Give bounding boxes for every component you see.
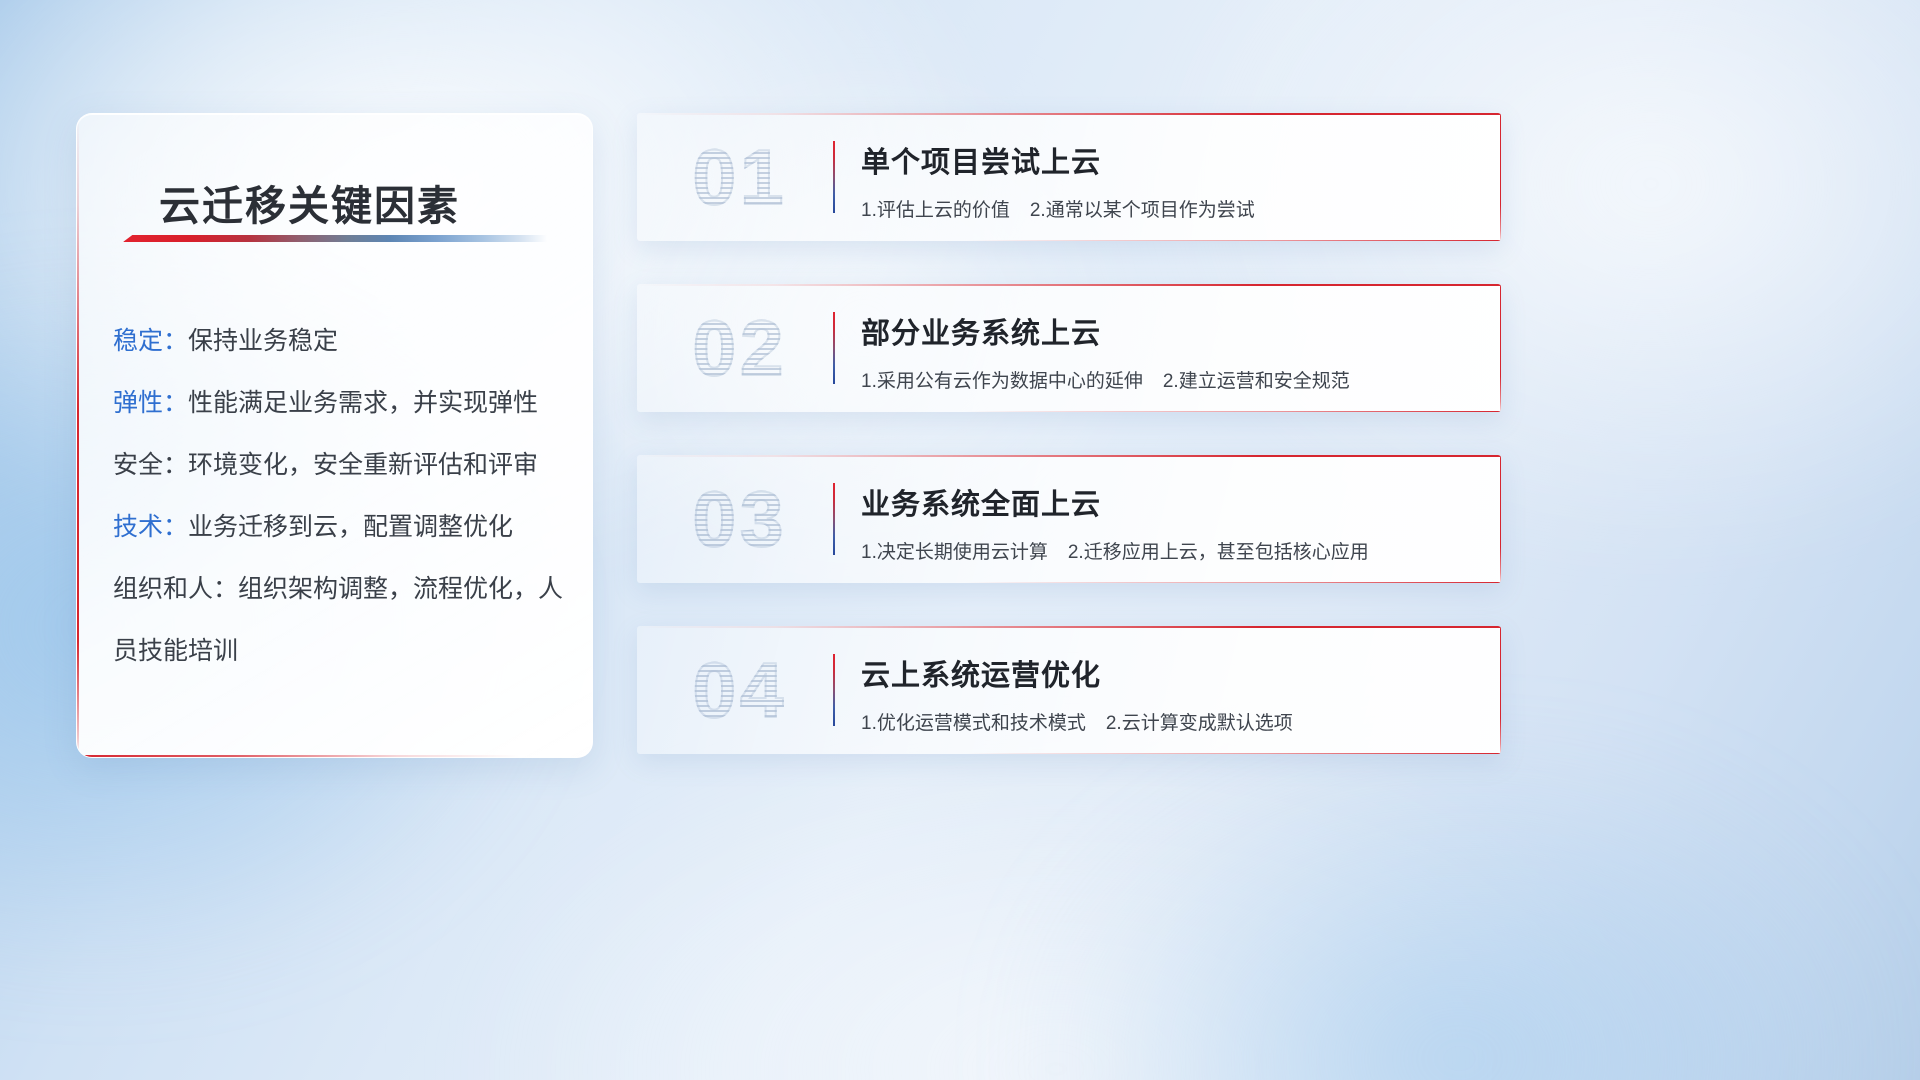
factor-label: 安全： (113, 451, 188, 479)
step-number: 02 (665, 298, 815, 398)
step-card-03[interactable]: 03 业务系统全面上云 1.决定长期使用云计算2.迁移应用上云，甚至包括核心应用 (637, 455, 1501, 583)
card-top-accent (637, 113, 1501, 115)
step-heading: 业务系统全面上云 (861, 481, 1101, 523)
factor-label: 技术： (113, 513, 188, 541)
factor-list: 稳定：保持业务稳定 弹性：性能满足业务需求，并实现弹性 安全：环境变化，安全重新… (113, 310, 583, 682)
card-right-accent (1500, 626, 1502, 754)
card-right-accent (1500, 455, 1502, 583)
card-right-accent (1500, 284, 1502, 412)
factor-text: 业务迁移到云，配置调整优化 (188, 513, 513, 541)
card-bottom-accent (965, 240, 1501, 242)
title-underline-gradient (123, 235, 547, 242)
factor-label: 稳定： (113, 327, 188, 355)
card-right-accent (1500, 113, 1502, 241)
card-top-accent (637, 284, 1501, 286)
step-number: 03 (665, 469, 815, 569)
step-point-1: 1.评估上云的价值 (861, 200, 1010, 221)
step-number: 01 (665, 127, 815, 227)
step-heading: 单个项目尝试上云 (861, 139, 1101, 181)
step-divider-bar (833, 141, 835, 213)
page-title: 云迁移关键因素 (159, 172, 460, 232)
step-subtitle: 1.决定长期使用云计算2.迁移应用上云，甚至包括核心应用 (861, 537, 1369, 564)
list-item: 组织和人：组织架构调整，流程优化，人员技能培训 (113, 558, 583, 682)
step-point-2: 2.建立运营和安全规范 (1163, 371, 1350, 392)
card-bottom-accent (965, 753, 1501, 755)
step-subtitle: 1.采用公有云作为数据中心的延伸2.建立运营和安全规范 (861, 366, 1350, 393)
factor-text: 保持业务稳定 (188, 327, 338, 355)
step-card-04[interactable]: 04 云上系统运营优化 1.优化运营模式和技术模式2.云计算变成默认选项 (637, 626, 1501, 754)
panel-bottom-accent-bar (77, 755, 592, 757)
list-item: 稳定：保持业务稳定 (113, 310, 583, 372)
step-heading: 部分业务系统上云 (861, 310, 1101, 352)
step-divider-bar (833, 483, 835, 555)
factor-text: 环境变化，安全重新评估和评审 (188, 451, 538, 479)
factor-text: 性能满足业务需求，并实现弹性 (188, 389, 538, 417)
key-factors-panel: 云迁移关键因素 稳定：保持业务稳定 弹性：性能满足业务需求，并实现弹性 安全：环… (76, 113, 593, 758)
list-item: 技术：业务迁移到云，配置调整优化 (113, 496, 583, 558)
step-point-1: 1.决定长期使用云计算 (861, 542, 1048, 563)
card-top-accent (637, 626, 1501, 628)
step-divider-bar (833, 654, 835, 726)
step-point-2: 2.云计算变成默认选项 (1106, 713, 1293, 734)
step-point-1: 1.优化运营模式和技术模式 (861, 713, 1086, 734)
card-top-accent (637, 455, 1501, 457)
step-heading: 云上系统运营优化 (861, 652, 1101, 694)
step-point-2: 2.迁移应用上云，甚至包括核心应用 (1068, 542, 1369, 563)
factor-label: 组织和人： (113, 575, 238, 603)
step-subtitle: 1.评估上云的价值2.通常以某个项目作为尝试 (861, 195, 1255, 222)
factor-label: 弹性： (113, 389, 188, 417)
step-subtitle: 1.优化运营模式和技术模式2.云计算变成默认选项 (861, 708, 1293, 735)
card-bottom-accent (965, 411, 1501, 413)
card-bottom-accent (965, 582, 1501, 584)
panel-left-accent-bar (77, 114, 79, 757)
step-divider-bar (833, 312, 835, 384)
step-number: 04 (665, 640, 815, 740)
list-item: 安全：环境变化，安全重新评估和评审 (113, 434, 583, 496)
list-item: 弹性：性能满足业务需求，并实现弹性 (113, 372, 583, 434)
step-card-01[interactable]: 01 单个项目尝试上云 1.评估上云的价值2.通常以某个项目作为尝试 (637, 113, 1501, 241)
step-point-1: 1.采用公有云作为数据中心的延伸 (861, 371, 1143, 392)
step-card-02[interactable]: 02 部分业务系统上云 1.采用公有云作为数据中心的延伸2.建立运营和安全规范 (637, 284, 1501, 412)
slide-stage: 云迁移关键因素 稳定：保持业务稳定 弹性：性能满足业务需求，并实现弹性 安全：环… (0, 0, 1920, 1080)
step-point-2: 2.通常以某个项目作为尝试 (1030, 200, 1255, 221)
